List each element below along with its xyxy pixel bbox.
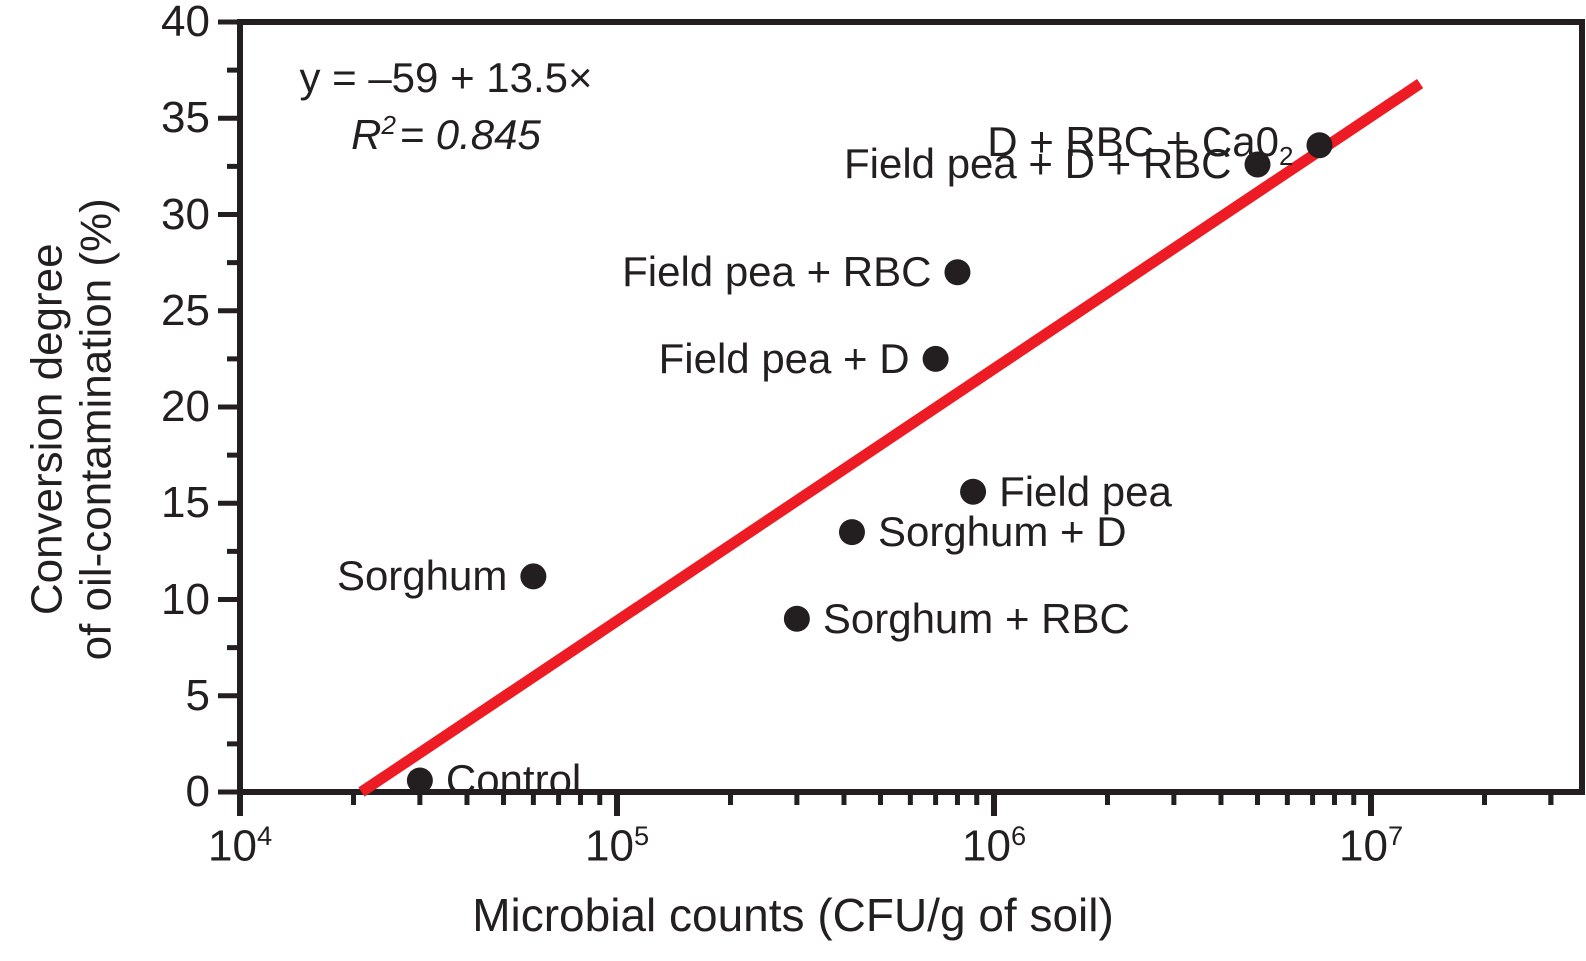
r-exponent: 2	[382, 110, 396, 140]
data-point-label-text: Control	[446, 756, 581, 803]
x-tick-mantissa: 10	[1339, 822, 1388, 871]
data-point-label: Field pea	[999, 471, 1172, 513]
data-point	[1306, 132, 1332, 158]
x-tick-exponent: 5	[634, 820, 649, 851]
x-tick-exponent: 6	[1011, 820, 1026, 851]
data-point-label-text: Sorghum + D	[878, 508, 1127, 555]
y-axis-title-line2: of oil-contamination (%)	[72, 49, 121, 809]
y-axis-title: Conversion degree of oil-contamination (…	[23, 49, 122, 809]
x-tick-label: 105	[585, 822, 649, 869]
x-tick-label: 107	[1339, 822, 1403, 869]
data-point	[520, 563, 546, 589]
data-point-label: Field pea + D	[659, 338, 910, 380]
data-point	[923, 346, 949, 372]
r-symbol: R	[351, 111, 381, 158]
data-point	[960, 479, 986, 505]
trendline	[361, 84, 1420, 792]
data-point-label: Sorghum + D	[878, 511, 1127, 553]
regression-equation: y = –59 + 13.5×	[266, 50, 626, 107]
data-point-label-text: Sorghum + RBC	[823, 595, 1130, 642]
x-tick-label: 106	[962, 822, 1026, 869]
r-squared-annotation: R2 = 0.845	[266, 107, 626, 164]
x-tick-exponent: 4	[257, 820, 272, 851]
data-point-label: Sorghum + RBC	[823, 598, 1130, 640]
x-tick-mantissa: 10	[208, 822, 257, 871]
data-point	[944, 259, 970, 285]
r-value: = 0.845	[400, 111, 541, 158]
data-point-label: D + RBC + Ca02	[987, 121, 1293, 169]
x-axis-ticks	[240, 792, 1551, 816]
data-point	[407, 767, 433, 793]
x-tick-exponent: 7	[1388, 820, 1403, 851]
x-axis-title: Microbial counts (CFU/g of soil)	[0, 888, 1586, 942]
data-point	[784, 606, 810, 632]
y-axis-title-line1: Conversion degree	[23, 49, 72, 809]
data-point-label: Sorghum	[337, 555, 507, 597]
data-point	[839, 519, 865, 545]
data-point-label: Field pea + RBC	[622, 251, 931, 293]
y-tick-label: 40	[70, 0, 210, 44]
y-axis-ticks	[218, 22, 240, 792]
regression-annotation: y = –59 + 13.5× R2 = 0.845	[266, 50, 626, 163]
x-tick-mantissa: 10	[962, 822, 1011, 871]
data-point-label-subscript: 2	[1279, 141, 1293, 171]
scatter-plot-canvas	[0, 0, 1586, 961]
data-point-label-text: Field pea + D	[659, 335, 910, 382]
chart-figure: 0510152025303540 104105106107 ControlSor…	[0, 0, 1586, 961]
x-tick-mantissa: 10	[585, 822, 634, 871]
data-point-label-text: Sorghum	[337, 552, 507, 599]
data-point-label-text: Field pea + RBC	[622, 248, 931, 295]
data-point-label-text: D + RBC + Ca0	[987, 118, 1279, 165]
data-point-label: Control	[446, 759, 581, 801]
data-point-label-text: Field pea	[999, 468, 1172, 515]
x-tick-label: 104	[208, 822, 272, 869]
